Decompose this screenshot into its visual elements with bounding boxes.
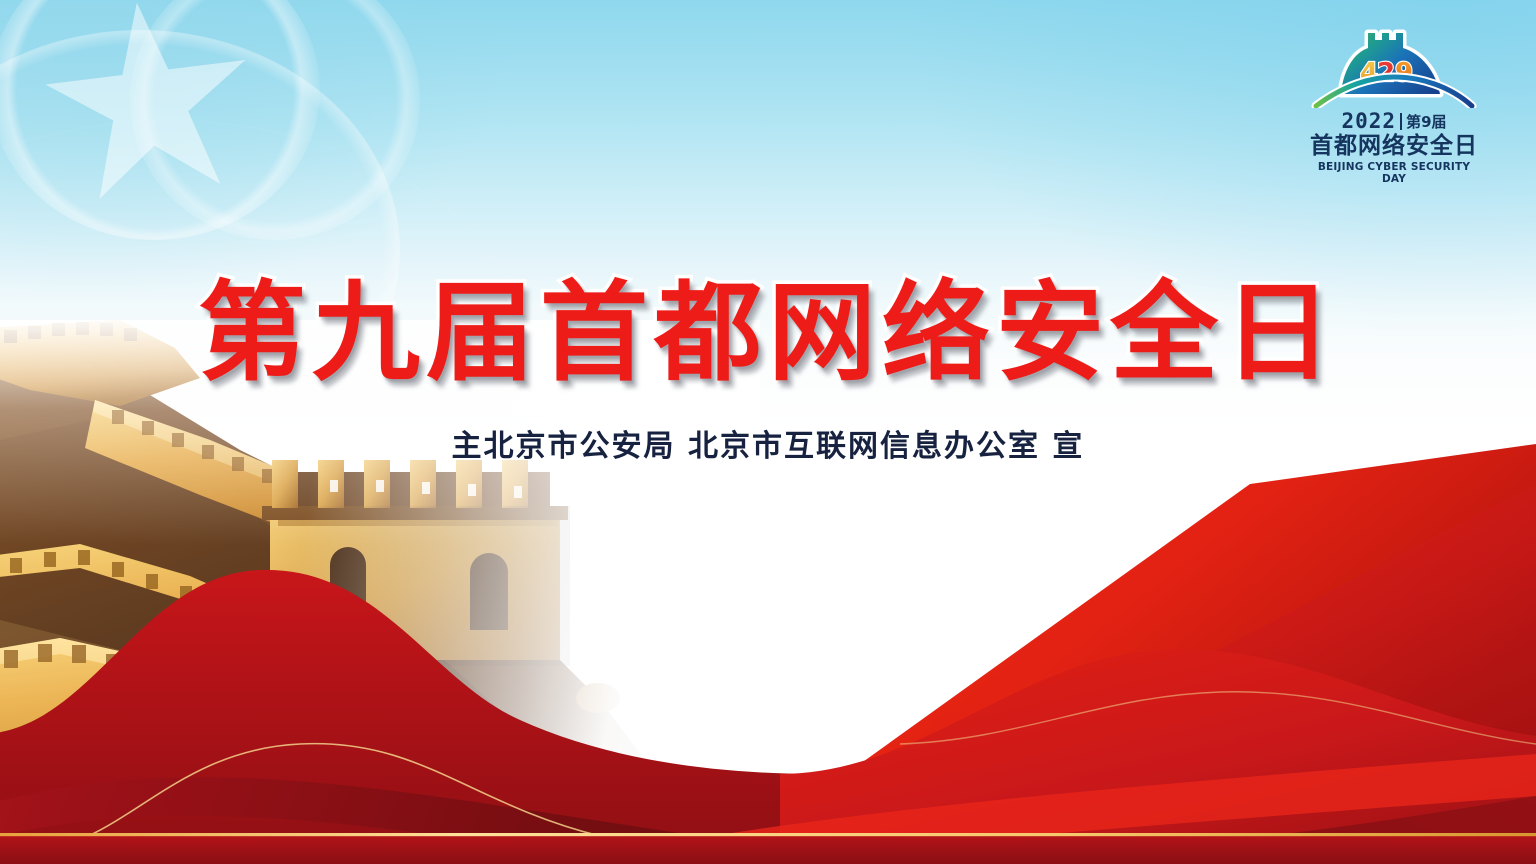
logo-text: 2022 第9届 首都网络安全日 BEIJING CYBER SECURITY … — [1310, 109, 1478, 185]
logo-divider — [1400, 113, 1402, 130]
logo-year-edition: 2022 第9届 — [1310, 109, 1478, 133]
logo-year: 2022 — [1341, 109, 1396, 133]
logo-name-cn: 首都网络安全日 — [1310, 134, 1478, 159]
event-logo: 4 2 9 2022 第9届 首都网络安全日 BEIJING CYBER SEC… — [1310, 22, 1478, 185]
logo-edition: 第9届 — [1406, 111, 1446, 132]
logo-mark: 4 2 9 — [1310, 22, 1478, 108]
logo-name-en: BEIJING CYBER SECURITY DAY — [1310, 161, 1478, 185]
great-wall-logo-icon: 4 2 9 — [1310, 22, 1478, 108]
red-ribbon-decoration — [0, 444, 1536, 864]
poster-canvas: 第九届首都网络安全日 主北京市公安局 北京市互联网信息办公室 宣 — [0, 0, 1536, 864]
